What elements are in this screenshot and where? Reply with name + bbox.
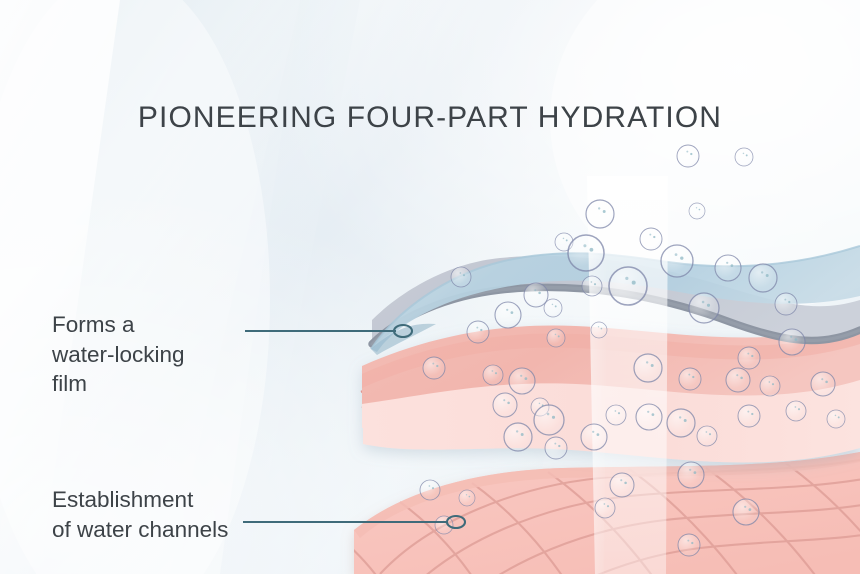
- illustration-canvas: PIONEERING FOUR-PART HYDRATION Forms a w…: [0, 0, 860, 574]
- page-title: PIONEERING FOUR-PART HYDRATION: [0, 101, 860, 135]
- leader-endpoint-icon: [447, 516, 465, 528]
- leader-endpoint-icon: [394, 325, 412, 337]
- leader-line-film: [245, 325, 412, 337]
- callout-establishment-of-water-channels: Establishment of water channels: [52, 485, 292, 544]
- callout-forms-water-locking-film: Forms a water-locking film: [52, 310, 242, 399]
